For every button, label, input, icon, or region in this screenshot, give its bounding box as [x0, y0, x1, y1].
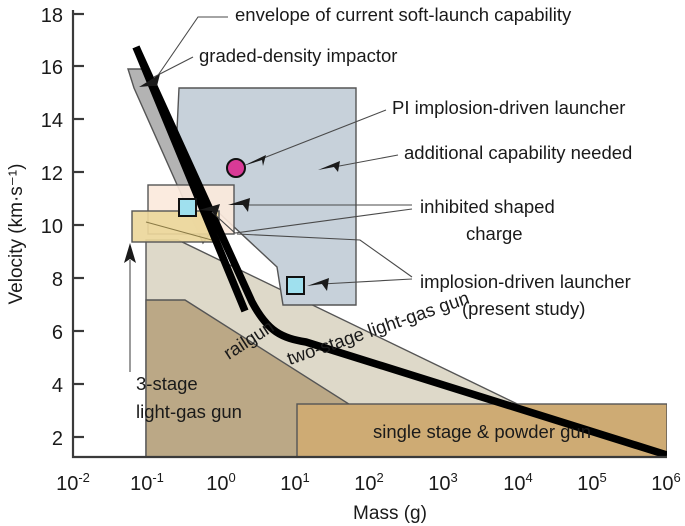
annotation-3-stage-light-gas-gun-line2: light-gas gun [136, 401, 242, 422]
y-tick-label: 6 [52, 322, 63, 344]
y-tick-label: 10 [41, 216, 63, 238]
y-tick-label: 4 [52, 375, 63, 397]
annotation-implosion-driven-launcher-line1: implosion-driven launcher [420, 271, 631, 292]
marker-pi-implosion-driven-launcher[interactable] [227, 159, 245, 177]
annotation-inhibited-shaped-charge-line2: charge [466, 223, 523, 244]
x-tick-label-4: 102 [354, 470, 383, 495]
x-tick-label-3: 101 [280, 470, 309, 495]
x-tick-label-5: 103 [428, 470, 457, 495]
band-label-single-stage-powder-gun: single stage & powder gun [373, 421, 591, 442]
x-tick-label-7: 105 [577, 470, 606, 495]
x-tick-label-8: 106 [651, 470, 680, 495]
annotation-inhibited-shaped-charge-line1: inhibited shaped [420, 196, 555, 217]
x-axis-title: Mass (g) [353, 503, 427, 524]
annotation-implosion-driven-launcher-line2: (present study) [462, 298, 585, 319]
x-tick-label-6: 104 [503, 470, 532, 495]
x-tick-label-0: 10-2 [56, 470, 90, 495]
y-tick-label: 12 [41, 163, 63, 185]
y-axis-tick-labels: 18 16 14 12 10 8 6 4 2 [41, 5, 63, 450]
marker-inhibited-shaped-charge[interactable] [179, 199, 196, 216]
annotation-envelope-of-current-soft-launch-capability: envelope of current soft-launch capabili… [235, 4, 572, 25]
y-tick-label: 18 [41, 5, 63, 27]
y-axis-ticks [73, 14, 84, 437]
annotation-graded-density-impactor: graded-density impactor [199, 45, 397, 66]
annotation-pi-implosion-driven-launcher: PI implosion-driven launcher [392, 97, 625, 118]
chart-svg: 18 16 14 12 10 8 6 4 2 10-2 10-1 100 101 [0, 0, 685, 526]
x-axis-tick-labels: 10-2 10-1 100 101 102 103 104 105 [56, 470, 681, 495]
y-tick-label: 8 [52, 269, 63, 291]
x-tick-label-1: 10-1 [130, 470, 164, 495]
leader-graded-density [154, 57, 193, 77]
y-tick-label: 14 [41, 110, 63, 132]
x-tick-label-2: 100 [206, 470, 235, 495]
annotation-3-stage-light-gas-gun-line1: 3-stage [136, 373, 198, 394]
annotation-additional-capability-needed: additional capability needed [404, 142, 632, 163]
y-tick-label: 2 [52, 428, 63, 450]
y-axis-title: Velocity (km·s⁻¹) [6, 164, 27, 305]
y-tick-label: 16 [41, 57, 63, 79]
velocity-mass-capability-chart: 18 16 14 12 10 8 6 4 2 10-2 10-1 100 101 [0, 0, 685, 526]
marker-implosion-driven-launcher-present-study[interactable] [287, 277, 304, 294]
